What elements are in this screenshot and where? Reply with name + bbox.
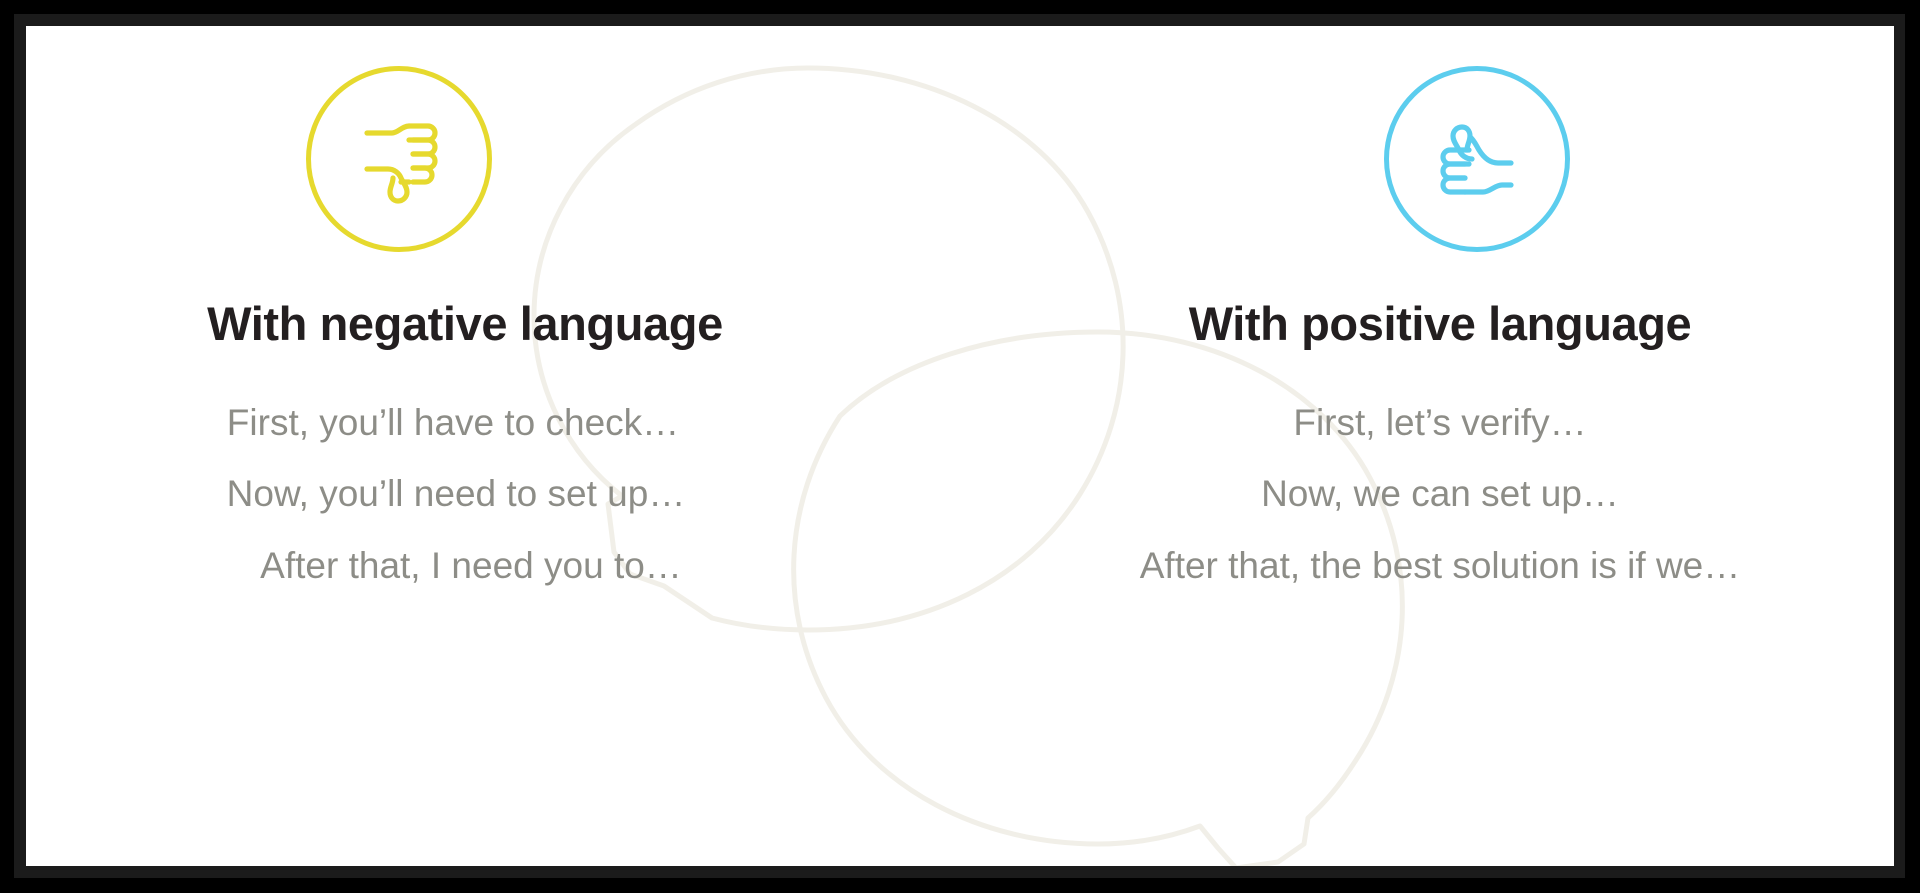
- phrase-item: First, you’ll have to check…: [227, 402, 679, 445]
- column-positive-language: With positive language First, let’s veri…: [960, 26, 1894, 866]
- phrase-item: Now, you’ll need to set up…: [227, 473, 686, 516]
- phrase-item: Now, we can set up…: [1261, 473, 1619, 516]
- page-title-positive: With positive language: [1189, 298, 1692, 350]
- phrase-list-positive: First, let’s verify… Now, we can set up……: [960, 402, 1894, 588]
- slide-frame: With negative language First, you’ll hav…: [0, 0, 1920, 893]
- content-columns: With negative language First, you’ll hav…: [26, 26, 1894, 866]
- page-title-negative: With negative language: [207, 298, 723, 350]
- phrase-item: After that, I need you to…: [260, 545, 682, 588]
- phrase-list-negative: First, you’ll have to check… Now, you’ll…: [26, 402, 960, 588]
- thumbs-down-icon: [306, 66, 492, 252]
- phrase-item: First, let’s verify…: [1293, 402, 1586, 445]
- column-negative-language: With negative language First, you’ll hav…: [26, 26, 960, 866]
- phrase-item: After that, the best solution is if we…: [1140, 545, 1741, 588]
- thumbs-up-icon: [1384, 66, 1570, 252]
- slide-canvas: With negative language First, you’ll hav…: [26, 26, 1894, 866]
